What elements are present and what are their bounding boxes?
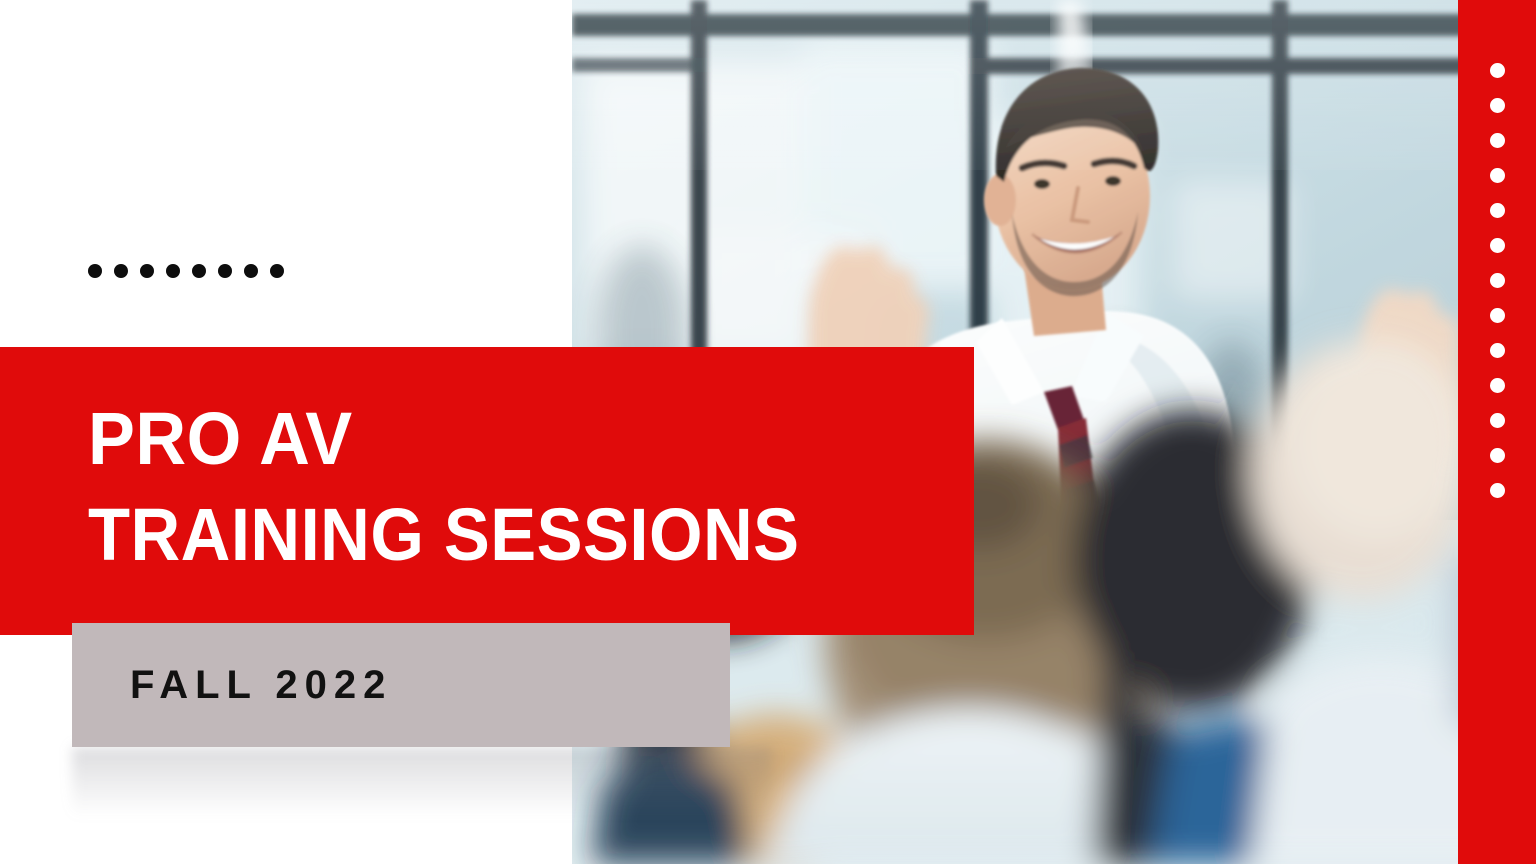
- dot-8: [270, 264, 284, 278]
- white-dot-12: [1490, 448, 1505, 463]
- dot-3: [140, 264, 154, 278]
- white-dot-1: [1490, 63, 1505, 78]
- white-dot-2: [1490, 98, 1505, 113]
- dot-6: [218, 264, 232, 278]
- dot-1: [88, 264, 102, 278]
- dot-5: [192, 264, 206, 278]
- slide-canvas: PRO AV TRAINING SESSIONS FALL 2022: [0, 0, 1536, 864]
- subtitle-text: FALL 2022: [130, 663, 392, 708]
- title-line-2: TRAINING SESSIONS: [88, 487, 800, 583]
- white-dot-11: [1490, 413, 1505, 428]
- title-block: PRO AV TRAINING SESSIONS: [88, 391, 853, 583]
- white-dot-column: [1458, 63, 1536, 498]
- white-dot-13: [1490, 483, 1505, 498]
- white-dot-6: [1490, 238, 1505, 253]
- white-dot-5: [1490, 203, 1505, 218]
- right-red-bar: [1458, 0, 1536, 864]
- white-dot-9: [1490, 343, 1505, 358]
- dot-7: [244, 264, 258, 278]
- white-dot-10: [1490, 378, 1505, 393]
- title-band: PRO AV TRAINING SESSIONS: [0, 347, 974, 635]
- dot-4: [166, 264, 180, 278]
- white-dot-7: [1490, 273, 1505, 288]
- white-dot-3: [1490, 133, 1505, 148]
- subtitle-band: FALL 2022: [72, 623, 730, 747]
- title-line-1: PRO AV: [88, 391, 815, 487]
- white-dot-4: [1490, 168, 1505, 183]
- dot-2: [114, 264, 128, 278]
- white-dot-8: [1490, 308, 1505, 323]
- black-dot-row: [88, 264, 284, 278]
